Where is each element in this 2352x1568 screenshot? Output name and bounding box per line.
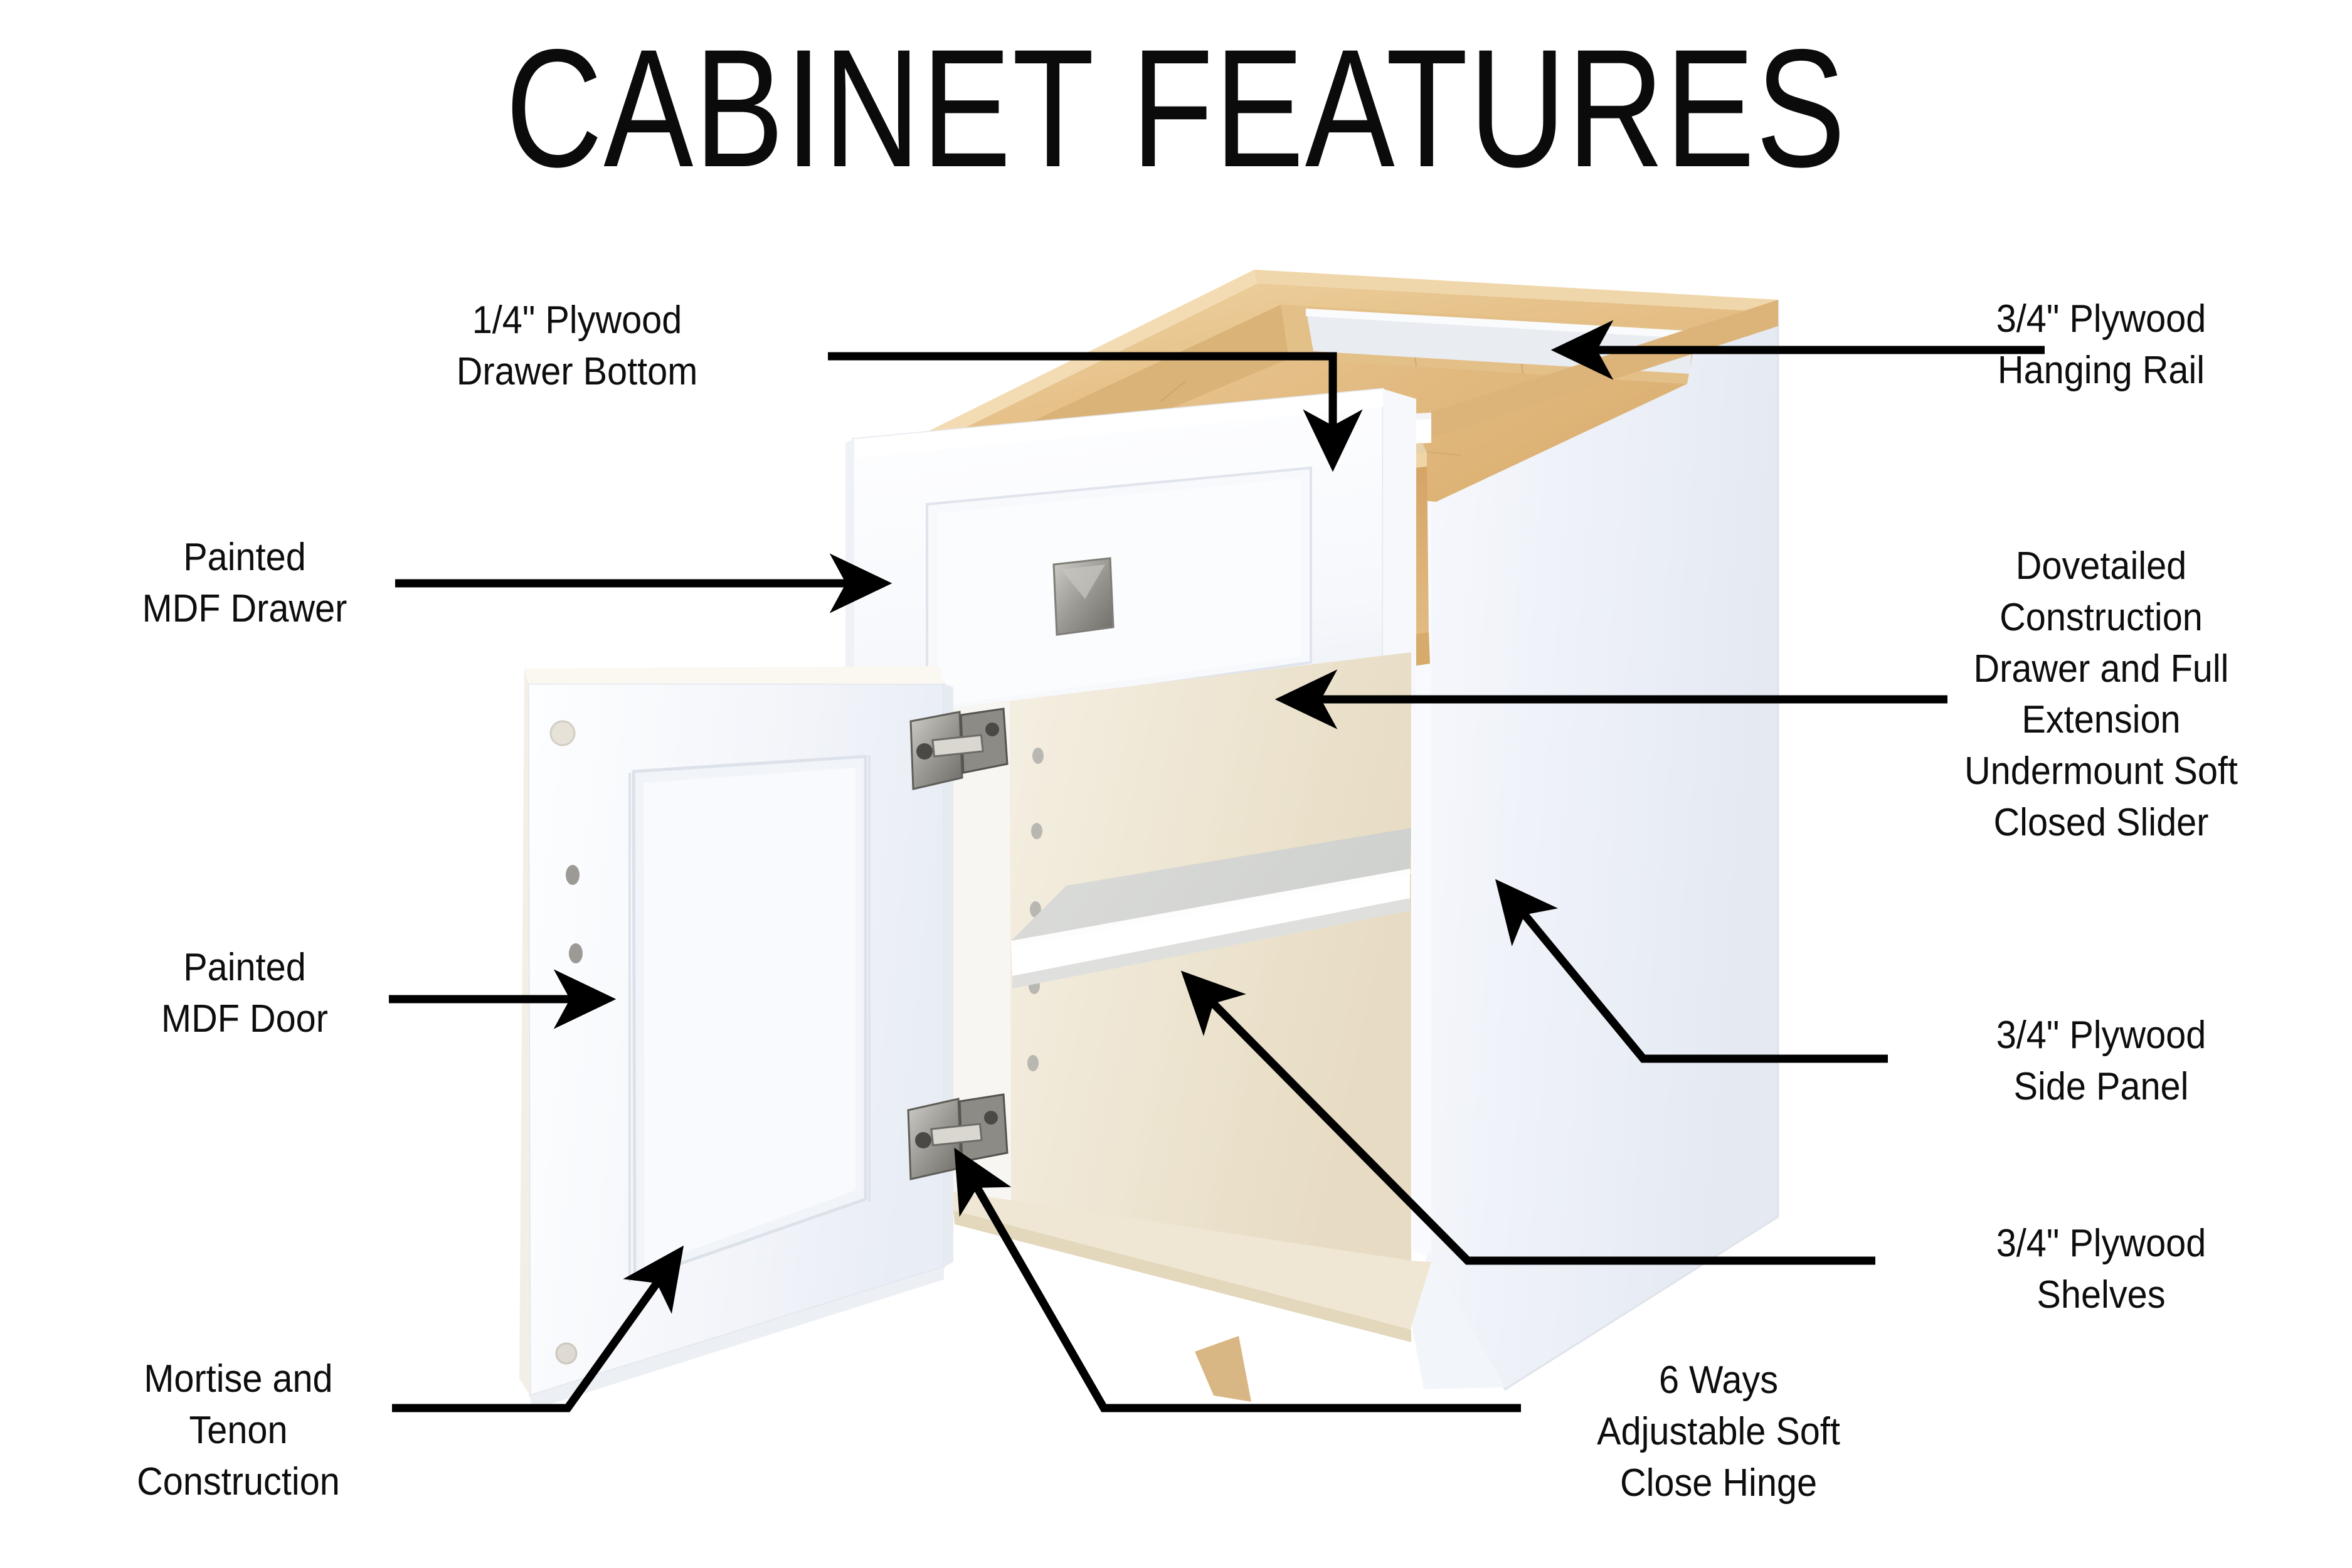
drawer-knob: [1054, 558, 1113, 635]
cabinet-door: [519, 666, 953, 1410]
callout-label-painted-drawer: Painted MDF Drawer: [41, 532, 449, 635]
poster-canvas: CABINET FEATURES: [0, 0, 2352, 1568]
callout-label-hanging-rail: 3/4" Plywood Hanging Rail: [1873, 294, 2328, 396]
door-bumper: [551, 721, 575, 745]
callout-label-shelves: 3/4" Plywood Shelves: [1880, 1218, 2323, 1321]
callout-label-side-panel: 3/4" Plywood Side Panel: [1880, 1010, 2323, 1113]
callout-label-hinge: 6 Ways Adjustable Soft Close Hinge: [1497, 1355, 1941, 1508]
callout-label-drawer-bottom: 1/4" Plywood Drawer Bottom: [356, 295, 799, 398]
callout-label-mortise: Mortise and Tenon Construction: [34, 1353, 443, 1507]
door-bumper: [556, 1343, 576, 1364]
cabinet-interior: [944, 652, 1411, 1273]
callout-label-dovetail: Dovetailed Construction Drawer and Full …: [1880, 541, 2323, 849]
callout-label-painted-door: Painted MDF Door: [41, 942, 449, 1045]
